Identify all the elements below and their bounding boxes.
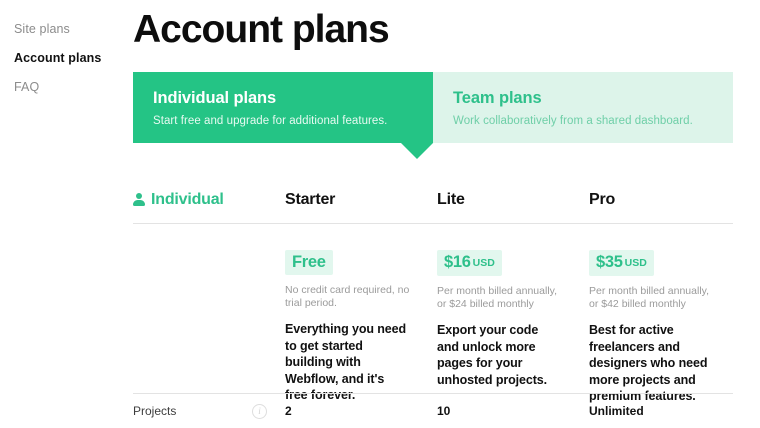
price-currency-lite: USD (473, 257, 495, 269)
tab-team-plans-subtitle: Work collaboratively from a shared dashb… (453, 114, 713, 129)
tab-team-plans[interactable]: Team plans Work collaboratively from a s… (433, 72, 733, 143)
plan-header-lite: Lite (437, 190, 589, 209)
tab-team-plans-title: Team plans (453, 88, 713, 108)
sidebar: Site plans Account plans FAQ (0, 0, 128, 427)
segment-label: Individual (151, 190, 224, 209)
feature-comparison-section: Projects i 2 10 Unlimited (133, 393, 733, 428)
plan-card-lite: $16USD Per month billed annually, or $24… (437, 250, 589, 405)
plan-detail-row: Free No credit card required, no trial p… (133, 224, 733, 405)
plan-header-row: Individual Starter Lite Pro (133, 190, 733, 224)
plan-description-lite: Export your code and unlock more pages f… (437, 322, 561, 388)
tab-individual-plans-subtitle: Start free and upgrade for additional fe… (153, 114, 413, 129)
price-note-starter: No credit card required, no trial period… (285, 284, 413, 310)
price-badge-lite: $16USD (437, 250, 502, 276)
plan-detail-spacer (133, 250, 285, 405)
tab-individual-plans[interactable]: Individual plans Start free and upgrade … (133, 72, 433, 143)
sidebar-item-site-plans[interactable]: Site plans (0, 22, 128, 37)
plan-name-starter: Starter (285, 191, 335, 208)
tab-individual-plans-title: Individual plans (153, 88, 413, 108)
price-note-lite: Per month billed annually, or $24 billed… (437, 285, 565, 311)
price-value-pro: $35 (596, 253, 623, 271)
plan-header-starter: Starter (285, 190, 437, 209)
price-badge-starter: Free (285, 250, 333, 275)
feature-value-projects-lite: 10 (437, 404, 589, 419)
plan-card-starter: Free No credit card required, no trial p… (285, 250, 437, 405)
sidebar-item-account-plans[interactable]: Account plans (0, 51, 128, 66)
page-title: Account plans (133, 8, 760, 52)
active-tab-pointer (401, 143, 433, 159)
feature-label-cell-projects: Projects i (133, 404, 285, 419)
plan-name-lite: Lite (437, 191, 465, 208)
feature-value-projects-starter: 2 (285, 404, 437, 419)
plan-name-pro: Pro (589, 191, 615, 208)
plan-header-pro: Pro (589, 190, 733, 209)
feature-label-projects: Projects (133, 404, 176, 419)
info-icon[interactable]: i (252, 404, 267, 419)
sidebar-item-faq[interactable]: FAQ (0, 80, 128, 95)
table-row: Projects i 2 10 Unlimited (133, 394, 733, 428)
price-value-starter: Free (292, 253, 326, 271)
plan-description-starter: Everything you need to get started build… (285, 321, 409, 404)
segment-cell: Individual (133, 190, 285, 209)
price-value-lite: $16 (444, 253, 471, 271)
plan-comparison-table: Individual Starter Lite Pro Free No cred… (133, 190, 733, 405)
feature-value-projects-pro: Unlimited (589, 404, 733, 419)
plan-type-tabs: Individual plans Start free and upgrade … (133, 72, 733, 143)
main-content: Account plans Individual plans Start fre… (133, 0, 760, 427)
price-currency-pro: USD (625, 257, 647, 269)
price-note-pro: Per month billed annually, or $42 billed… (589, 285, 717, 311)
user-icon (133, 193, 145, 206)
price-badge-pro: $35USD (589, 250, 654, 276)
plan-card-pro: $35USD Per month billed annually, or $42… (589, 250, 733, 405)
